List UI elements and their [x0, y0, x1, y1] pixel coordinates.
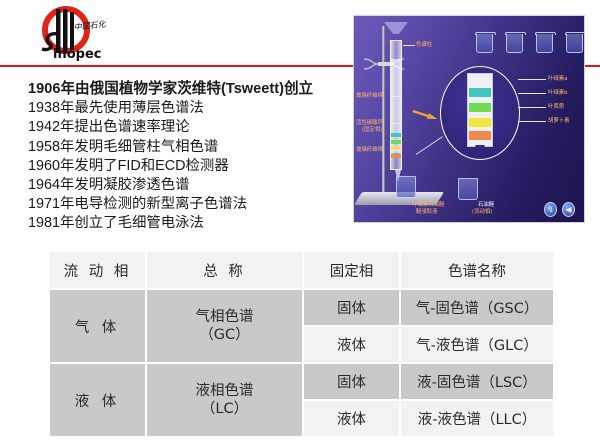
svg-text:inopec: inopec: [53, 47, 101, 62]
cell-stationary-solid-1: 固体: [304, 290, 399, 325]
cell-stationary-liquid-2: 液体: [304, 401, 399, 436]
label-extract-line2: 醚浸取液: [416, 209, 438, 215]
cell-stationary-liquid-1: 液体: [304, 327, 399, 362]
history-line-3: 1942年提出色谱速率理论: [28, 118, 348, 137]
history-line-7: 1971年电导检测的新型离子色谱法: [28, 195, 348, 214]
label-glass-wool-top: 玻璃纤维棉: [356, 93, 383, 99]
magnifier-connector: [416, 136, 443, 155]
beaker-icon-solvent: [458, 178, 478, 200]
cell-general-gc-abbr: （GC）: [147, 326, 302, 344]
funnel-icon: [384, 22, 408, 34]
cell-general-lc-name: 液相色谱: [147, 382, 302, 400]
history-line-5: 1960年发明了FID和ECD检测器: [28, 157, 348, 176]
cell-general-lc: 液相色谱 （LC）: [147, 364, 302, 436]
beaker-icon-3: [536, 34, 553, 53]
stand-rod-icon: [382, 26, 385, 196]
chromatography-illustration: 玻璃纤维棉 活性碳酸钙 (固定相) 玻璃纤维棉 色谱柱 叶绿素a 叶绿素b 叶黄…: [353, 15, 585, 223]
history-line-6: 1964年发明凝胶渗透色谱: [28, 176, 348, 195]
label-extract: 叶绿素石油醚: [412, 202, 444, 208]
cell-method-lsc: 液-固色谱（LSC）: [401, 364, 553, 399]
cell-general-lc-abbr: （LC）: [147, 400, 302, 418]
history-text-block: 1906年由俄国植物学家茨维特(Tsweett)创立 1938年最先使用薄层色谱…: [28, 80, 348, 234]
svg-text:中国石化: 中国石化: [73, 20, 107, 32]
back-badge-icon[interactable]: ◀: [562, 202, 575, 217]
sinopec-logo: 中国石化 inopec: [28, 6, 114, 62]
cell-method-glc: 气-液色谱（GLC）: [401, 327, 553, 362]
cell-general-gc: 气相色谱 （GC）: [147, 290, 302, 362]
history-line-1: 1906年由俄国植物学家茨维特(Tsweett)创立: [28, 80, 348, 99]
lightning-badge-icon[interactable]: ↯: [544, 202, 557, 217]
label-mobile-phase: 石油醚: [478, 202, 494, 208]
label-stationary-phase-note: (固定相): [362, 127, 382, 133]
chromatography-classification-table: 流 动 相 总 称 固定相 色谱名称 气 体 气相色谱 （GC） 固体 气-固色…: [48, 250, 555, 438]
beaker-icon-extract: [396, 176, 416, 198]
cell-mobile-gas: 气 体: [50, 290, 145, 362]
history-line-4: 1958年发明毛细管柱气相色谱: [28, 138, 348, 157]
header-stationary-phase: 固定相: [304, 252, 399, 288]
table-row: 气 体 气相色谱 （GC） 固体 气-固色谱（GSC）: [50, 290, 553, 325]
slide-canvas: 中国石化 inopec 1906年由俄国植物学家茨维特(Tsweett)创立 1…: [0, 0, 600, 448]
header-method-name: 色谱名称: [401, 252, 553, 288]
magnified-column-inset: [440, 66, 520, 160]
cell-method-gsc: 气-固色谱（GSC）: [401, 290, 553, 325]
beaker-icon-1: [476, 34, 493, 53]
beaker-icon-4: [566, 34, 583, 53]
table-header-row: 流 动 相 总 称 固定相 色谱名称: [50, 252, 553, 288]
label-glass-wool-bottom: 玻璃纤维棉: [356, 147, 383, 153]
cell-method-llc: 液-液色谱（LLC）: [401, 401, 553, 436]
flow-arrow-icon: [412, 108, 439, 122]
beaker-icon-2: [506, 34, 523, 53]
history-line-8: 1981年创立了毛细管电泳法: [28, 214, 348, 233]
label-band-carotene: 胡萝卜素: [548, 118, 570, 124]
cell-stationary-solid-2: 固体: [304, 364, 399, 399]
header-mobile-phase: 流 动 相: [50, 252, 145, 288]
cell-general-gc-name: 气相色谱: [147, 308, 302, 326]
label-stationary-phase: 活性碳酸钙: [356, 120, 383, 126]
table-row: 液 体 液相色谱 （LC） 固体 液-固色谱（LSC）: [50, 364, 553, 399]
history-line-2: 1938年最先使用薄层色谱法: [28, 99, 348, 118]
header-general-name: 总 称: [147, 252, 302, 288]
label-column: 色谱柱: [416, 42, 432, 48]
label-band-xanthophyll: 叶黄质: [548, 104, 564, 110]
label-mobile-phase-note: (流动相): [472, 209, 492, 215]
cell-mobile-liquid: 液 体: [50, 364, 145, 436]
label-band-chlorophyll-b: 叶绿素b: [548, 90, 568, 96]
label-band-chlorophyll-a: 叶绿素a: [548, 76, 567, 82]
